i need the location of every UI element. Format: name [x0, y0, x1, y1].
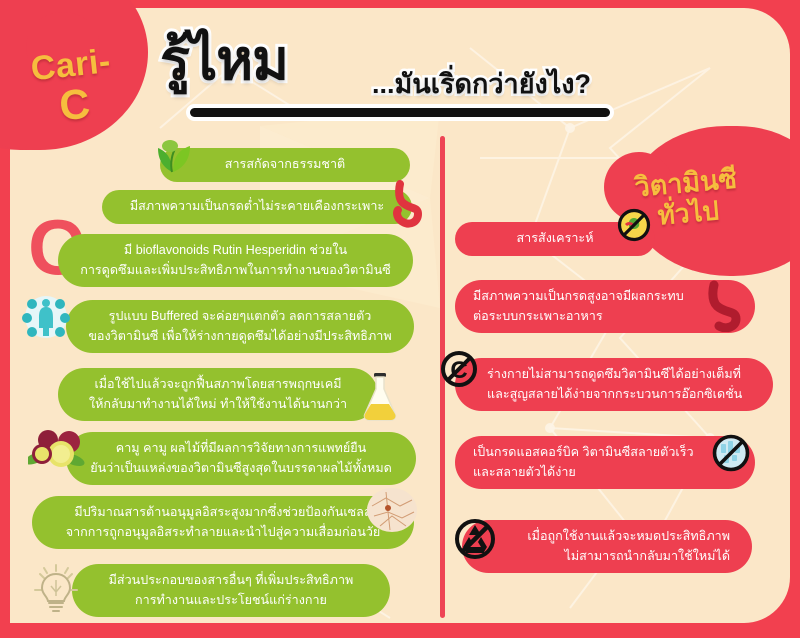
left-item-4-pill: เมื่อใช้ไปแล้วจะถูกฟื้นสภาพโดยสารพฤกษเคม…	[58, 368, 378, 421]
list-item: สารสกัดจากธรรมชาติ	[160, 148, 410, 182]
no-recycle-icon	[452, 516, 498, 562]
list-item: ร่างกายไม่สามารถดูดซึมวิตามินซีได้อย่างเ…	[455, 358, 773, 411]
list-item: มีส่วนประกอบของสารอื่นๆ ที่เพิ่มประสิทธิ…	[72, 564, 390, 617]
no-vitamin-c-icon: C	[438, 348, 480, 390]
brand-logo-text: Cari- C	[4, 41, 141, 132]
left-item-6-pill: มีปริมาณสารต้านอนุมูลอิสระสูงมากซึ่งช่วย…	[32, 496, 414, 549]
headline: รู้ไหม ...มันเริ่ดกว่ายังไง?	[160, 32, 660, 124]
list-item: คามู คามู ผลไม้ที่มีผลการวิจัยทางการแพทย…	[66, 432, 416, 485]
cell-icon	[366, 486, 418, 534]
left-item-5-pill: คามู คามู ผลไม้ที่มีผลการวิจัยทางการแพทย…	[66, 432, 416, 485]
headline-sub: ...มันเริ่ดกว่ายังไง?	[372, 62, 591, 105]
no-natural-leaf-icon	[617, 208, 651, 242]
lightbulb-icon	[32, 562, 80, 614]
stomach-icon	[700, 280, 746, 332]
headline-main: รู้ไหม	[160, 32, 288, 88]
stomach-icon	[388, 180, 426, 228]
left-item-7-pill: มีส่วนประกอบของสารอื่นๆ ที่เพิ่มประสิทธิ…	[72, 564, 390, 617]
camu-camu-fruit-icon	[28, 428, 86, 472]
flask-icon	[360, 370, 400, 422]
left-item-2-pill: มี bioflavonoids Rutin Hesperidin ช่วยใน…	[58, 234, 413, 287]
headline-underline	[190, 108, 610, 117]
list-item: รูปแบบ Buffered จะค่อยๆแตกตัว ลดการสลายต…	[66, 300, 414, 353]
left-item-1-pill: มีสภาพความเป็นกรดต่ำไม่ระคายเคืองกระเพาะ	[102, 190, 412, 224]
right-item-2-pill: ร่างกายไม่สามารถดูดซึมวิตามินซีได้อย่างเ…	[455, 358, 773, 411]
list-item: มี bioflavonoids Rutin Hesperidin ช่วยใน…	[58, 234, 413, 287]
list-item: มีสภาพความเป็นกรดต่ำไม่ระคายเคืองกระเพาะ	[102, 190, 412, 224]
right-item-4-pill: เมื่อถูกใช้งานแล้วจะหมดประสิทธิภาพ ไม่สา…	[462, 520, 752, 573]
left-item-0-pill: สารสกัดจากธรรมชาติ	[160, 148, 410, 182]
list-item: เมื่อถูกใช้งานแล้วจะหมดประสิทธิภาพ ไม่สา…	[462, 520, 752, 573]
no-crystal-icon	[710, 432, 752, 474]
left-item-3-pill: รูปแบบ Buffered จะค่อยๆแตกตัว ลดการสลายต…	[66, 300, 414, 353]
buffered-body-icon	[22, 294, 70, 340]
leaf-sprout-icon	[150, 134, 196, 174]
list-item: มีปริมาณสารต้านอนุมูลอิสระสูงมากซึ่งช่วย…	[32, 496, 414, 549]
list-item: เมื่อใช้ไปแล้วจะถูกฟื้นสภาพโดยสารพฤกษเคม…	[58, 368, 378, 421]
infographic-poster: รู้ไหม ...มันเริ่ดกว่ายังไง? C สารสกัดจา…	[0, 0, 800, 638]
